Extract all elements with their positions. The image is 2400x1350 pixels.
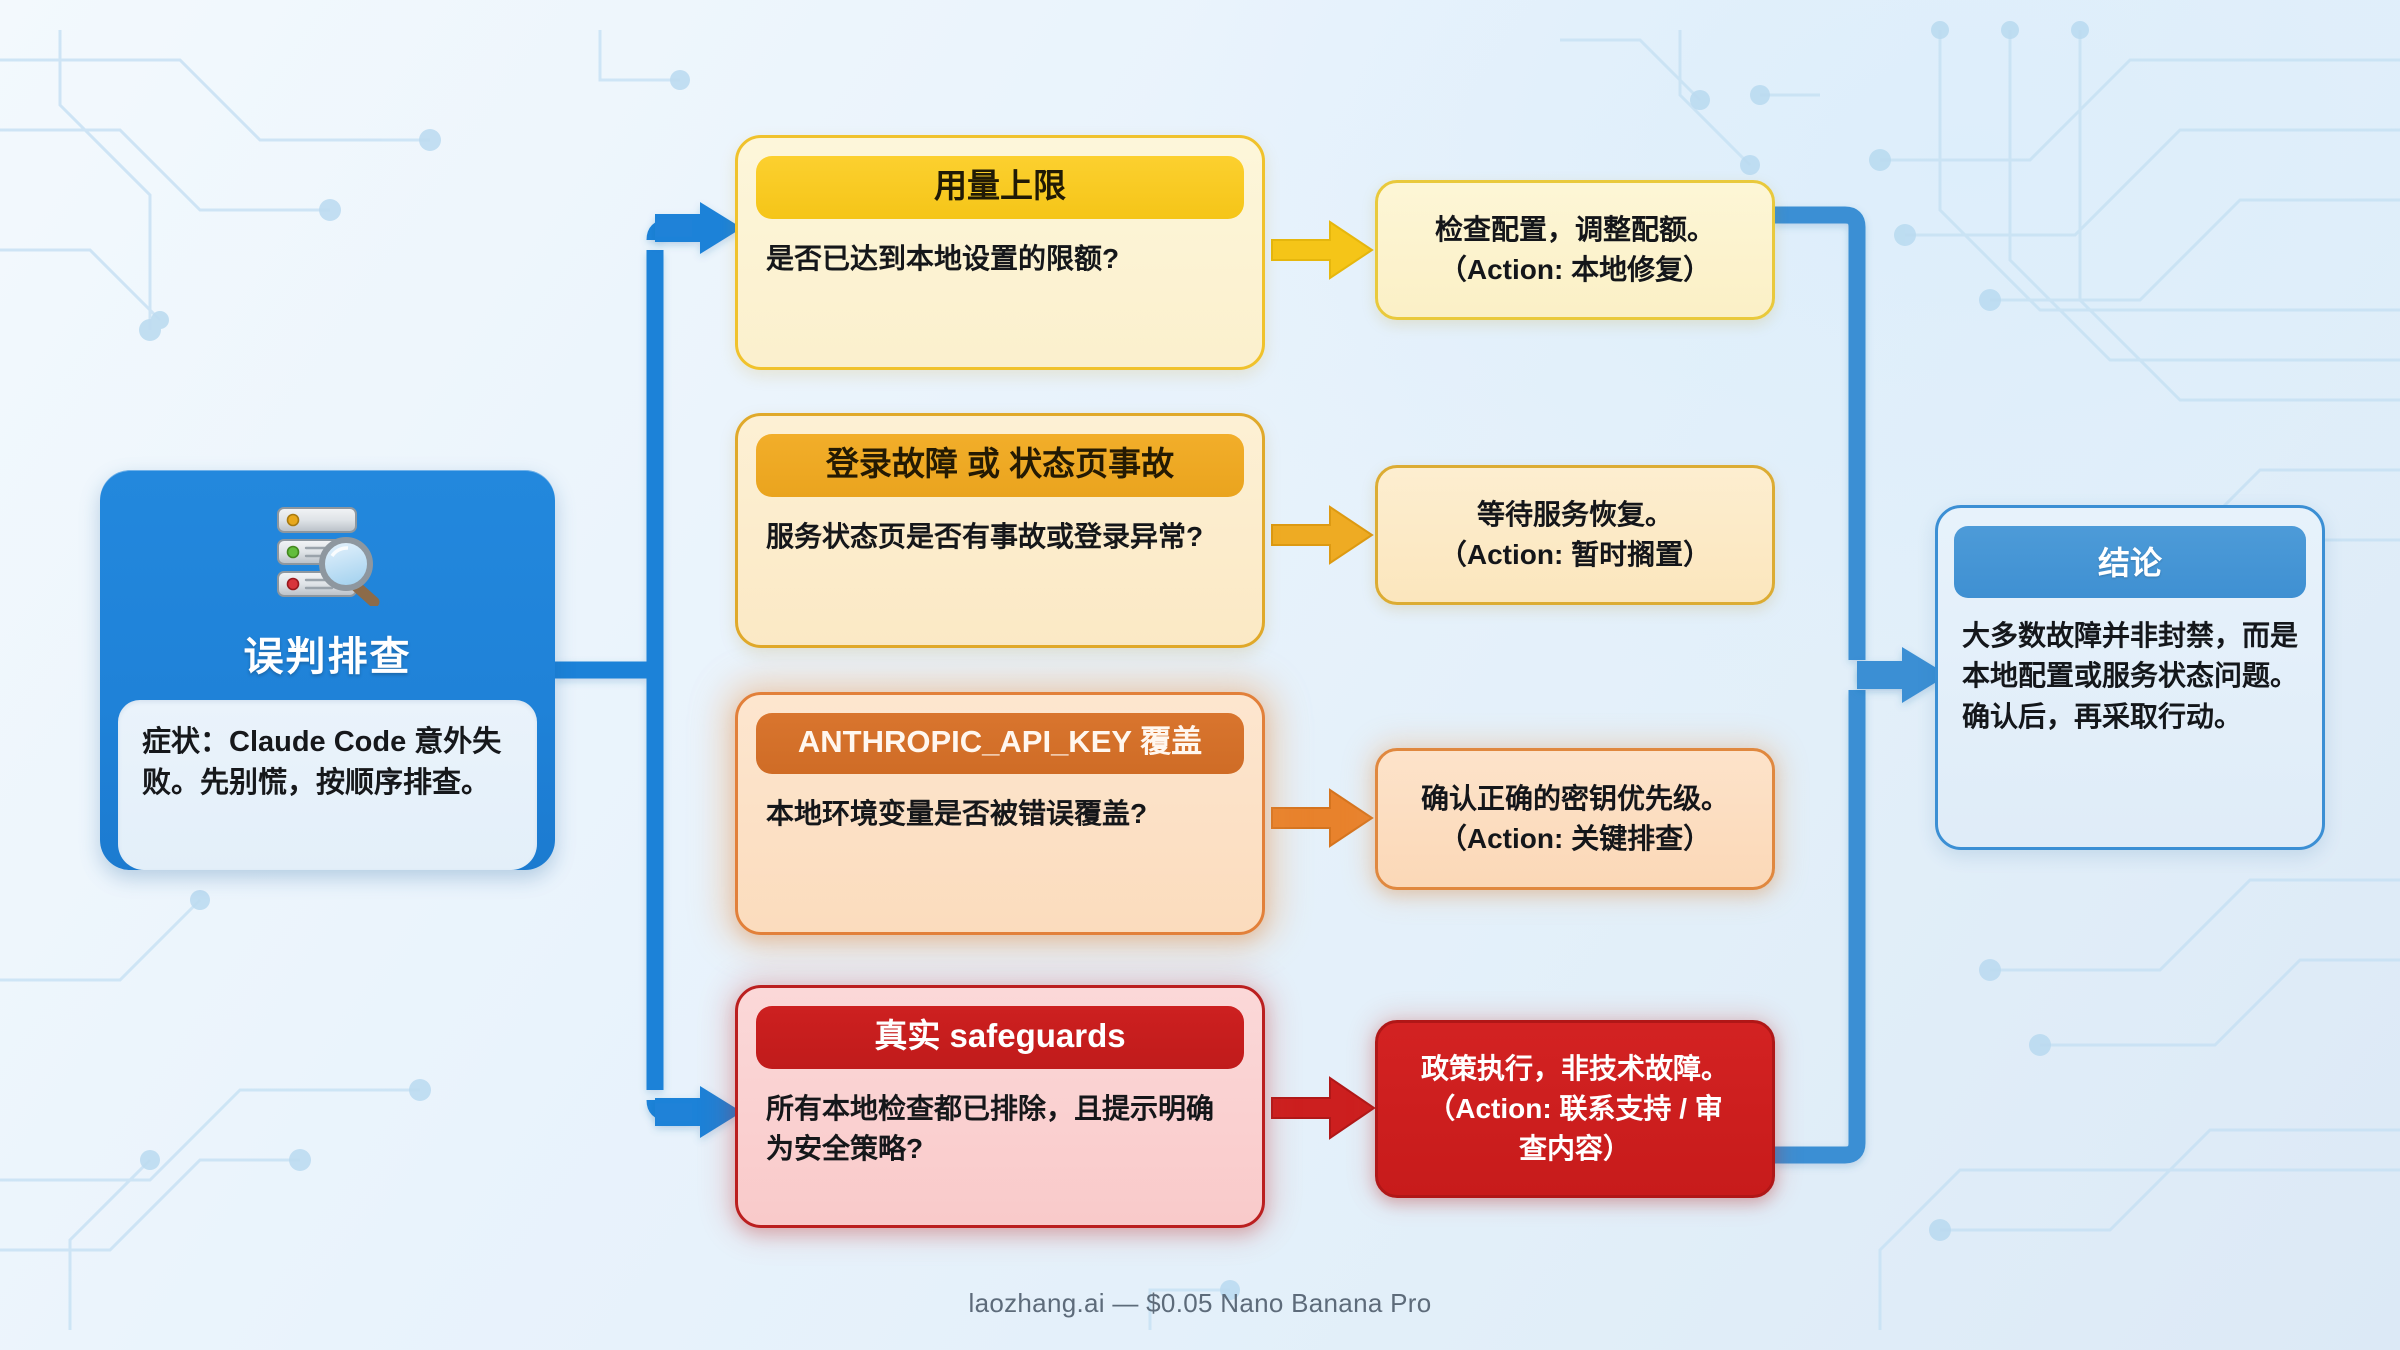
root-description: 症状：Claude Code 意外失败。先别慌，按顺序排查。 <box>118 700 537 870</box>
root-title: 误判排查 <box>244 624 412 682</box>
action-line-2: （Action: 关键排查） <box>1421 819 1729 859</box>
diagram-canvas: 误判排查 症状：Claude Code 意外失败。先别慌，按顺序排查。 用量上限… <box>0 0 2400 1350</box>
conclusion-body: 大多数故障并非封禁，而是本地配置或服务状态问题。确认后，再采取行动。 <box>1954 616 2306 737</box>
action-box-anthropic-api-key-override[interactable]: 确认正确的密钥优先级。 （Action: 关键排查） <box>1375 748 1775 890</box>
branch-card-login-or-status-incident[interactable]: 登录故障 或 状态页事故 服务状态页是否有事故或登录异常? <box>735 413 1265 648</box>
branch-card-real-safeguards[interactable]: 真实 safeguards 所有本地检查都已排除，且提示明确为安全策略? <box>735 985 1265 1228</box>
action-box-login-or-status-incident[interactable]: 等待服务恢复。 （Action: 暂时搁置） <box>1375 465 1775 605</box>
branch-card-anthropic-api-key-override[interactable]: ANTHROPIC_API_KEY 覆盖 本地环境变量是否被错误覆盖? <box>735 692 1265 935</box>
branch-card-title: 登录故障 或 状态页事故 <box>756 434 1244 497</box>
action-box-real-safeguards[interactable]: 政策执行，非技术故障。 （Action: 联系支持 / 审 查内容） <box>1375 1020 1775 1198</box>
conclusion-title: 结论 <box>1954 526 2306 598</box>
branch-card-question: 服务状态页是否有事故或登录异常? <box>756 517 1244 558</box>
action-box-usage-limit[interactable]: 检查配置，调整配额。 （Action: 本地修复） <box>1375 180 1775 320</box>
action-line-2: （Action: 本地修复） <box>1435 250 1715 290</box>
action-line-2: （Action: 暂时搁置） <box>1439 535 1711 575</box>
action-line-1: 政策执行，非技术故障。 <box>1421 1049 1729 1089</box>
server-search-icon <box>270 502 386 606</box>
conclusion-node[interactable]: 结论 大多数故障并非封禁，而是本地配置或服务状态问题。确认后，再采取行动。 <box>1935 505 2325 850</box>
action-line-2: （Action: 联系支持 / 审 <box>1421 1089 1729 1129</box>
branch-card-question: 是否已达到本地设置的限额? <box>756 239 1244 280</box>
branch-card-usage-limit[interactable]: 用量上限 是否已达到本地设置的限额? <box>735 135 1265 370</box>
branch-card-title: 用量上限 <box>756 156 1244 219</box>
action-line-3: 查内容） <box>1421 1129 1729 1169</box>
branch-card-question: 本地环境变量是否被错误覆盖? <box>756 794 1244 835</box>
footer-credit: laozhang.ai — $0.05 Nano Banana Pro <box>0 1288 2400 1319</box>
root-node[interactable]: 误判排查 症状：Claude Code 意外失败。先别慌，按顺序排查。 <box>100 470 555 870</box>
branch-card-title: ANTHROPIC_API_KEY 覆盖 <box>756 713 1244 774</box>
action-line-1: 检查配置，调整配额。 <box>1435 210 1715 250</box>
action-line-1: 等待服务恢复。 <box>1439 495 1711 535</box>
branch-card-title: 真实 safeguards <box>756 1006 1244 1069</box>
branch-card-question: 所有本地检查都已排除，且提示明确为安全策略? <box>756 1089 1244 1170</box>
action-line-1: 确认正确的密钥优先级。 <box>1421 779 1729 819</box>
